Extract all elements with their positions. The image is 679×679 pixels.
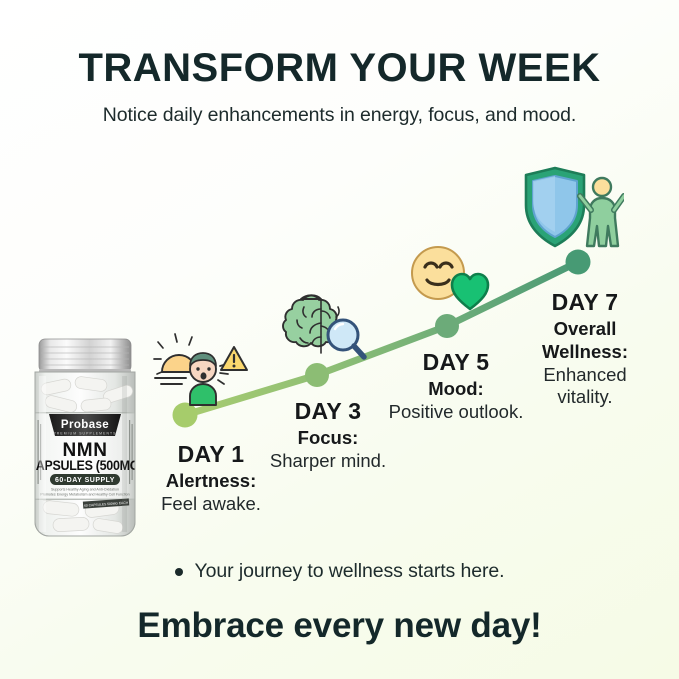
product-bottle-image: Probase PREMIUM SUPPLEMENTS NMN CAPSULES… (23, 336, 147, 538)
milestone-day-7-label: Overall Wellness: (515, 318, 655, 363)
milestone-day-3: DAY 3 Focus: Sharper mind. (259, 398, 397, 473)
brain-magnifier-icon (278, 293, 370, 365)
milestone-day-5-label: Mood: (386, 378, 526, 401)
node-day-7 (566, 250, 591, 275)
bottle-fineprint-1: Supports Healthy Aging and Anti-Oxidatio… (51, 488, 119, 492)
milestone-day-1-label: Alertness: (136, 470, 286, 493)
page-title: TRANSFORM YOUR WEEK (0, 47, 679, 89)
milestone-day-5-day: DAY 5 (386, 349, 526, 375)
tagline-row: Your journey to wellness starts here. (0, 560, 679, 583)
bullet-icon (175, 568, 183, 576)
bottle-brand-text: Probase (61, 419, 109, 431)
node-day-3 (305, 363, 329, 387)
bottle-supply-badge: 60-DAY SUPPLY (55, 477, 115, 484)
milestone-day-5-desc: Positive outlook. (386, 401, 526, 424)
milestone-day-7-day: DAY 7 (515, 289, 655, 315)
milestone-day-3-day: DAY 3 (259, 398, 397, 424)
milestone-day-1-desc: Feel awake. (136, 493, 286, 516)
node-day-5 (435, 314, 459, 338)
milestone-day-7: DAY 7 Overall Wellness: Enhanced vitalit… (515, 289, 655, 409)
svg-text:PREMIUM SUPPLEMENTS: PREMIUM SUPPLEMENTS (53, 432, 116, 436)
infographic-poster: TRANSFORM YOUR WEEK Notice daily enhance… (0, 0, 679, 679)
bottle-fineprint-2: Promotes Energy Metabolism and Healthy C… (40, 493, 129, 497)
page-subtitle: Notice daily enhancements in energy, foc… (0, 104, 679, 127)
milestone-day-5: DAY 5 Mood: Positive outlook. (386, 349, 526, 424)
milestone-day-7-desc: Enhanced vitality. (515, 364, 655, 409)
shield-person-icon (518, 165, 624, 251)
milestone-day-3-label: Focus: (259, 427, 397, 450)
smiley-heart-icon (408, 245, 494, 311)
milestone-day-3-desc: Sharper mind. (259, 450, 397, 473)
closing-statement: Embrace every new day! (0, 606, 679, 646)
tagline-text: Your journey to wellness starts here. (195, 560, 505, 583)
sunrise-alert-person-icon (152, 328, 256, 408)
